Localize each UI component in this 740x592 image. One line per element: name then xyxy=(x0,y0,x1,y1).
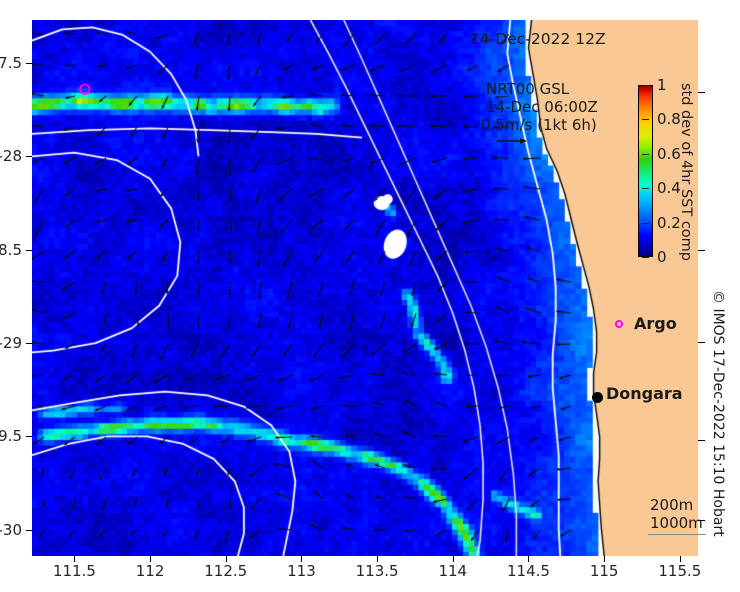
x-tick-label: 115.5 xyxy=(658,562,701,580)
vector-scale-label: 0.5m/s (1kt 6h) xyxy=(481,116,597,134)
x-tick-label: 115 xyxy=(590,562,619,580)
y-tick-label: -29 xyxy=(0,334,22,352)
bathymetry-200m-label: 200m xyxy=(650,496,693,514)
map-plot-area[interactable] xyxy=(32,20,698,556)
credit-text: © IMOS 17-Dec-2022 15:10 Hobart xyxy=(710,290,726,537)
map-overlay-layer xyxy=(32,20,698,556)
source-time-label: 14-Dec 06:00Z xyxy=(486,98,598,116)
colorbar-title: std dev of 4hr SST comp xyxy=(678,83,694,261)
x-tick-label: 114 xyxy=(438,562,467,580)
argo-legend-label: Argo xyxy=(634,314,677,333)
colorbar-tick xyxy=(642,188,649,189)
colorbar-gradient xyxy=(638,85,653,257)
bathymetry-legend-rule xyxy=(648,534,706,535)
y-tick xyxy=(26,436,32,437)
colorbar-tick xyxy=(642,119,649,120)
title-datetime: 14-Dec-2022 12Z xyxy=(470,30,606,48)
y-tick xyxy=(26,156,32,157)
y-tick-label: -28 xyxy=(0,147,22,165)
x-tick-label: 113 xyxy=(287,562,316,580)
colorbar-tick xyxy=(642,85,649,86)
y-tick xyxy=(26,63,32,64)
colorbar-tick-label: 0 xyxy=(657,248,667,266)
x-tick-label: 111.5 xyxy=(53,562,96,580)
x-tick-label: 112.5 xyxy=(204,562,247,580)
bathymetry-1000m-label: 1000m xyxy=(650,514,703,532)
colorbar-tick xyxy=(642,154,649,155)
figure-root: 111.5112112.5113113.5114114.5115115.5 -2… xyxy=(0,0,740,592)
right-frame-tick xyxy=(698,342,705,343)
y-tick xyxy=(26,530,32,531)
y-tick-label: -28.5 xyxy=(0,241,22,259)
x-tick-label: 112 xyxy=(136,562,165,580)
right-frame-tick xyxy=(698,250,705,251)
dongara-city-label: Dongara xyxy=(606,384,683,403)
right-frame-tick xyxy=(698,92,705,93)
colorbar-tick-label: 1 xyxy=(657,76,667,94)
colorbar-tick xyxy=(642,223,649,224)
x-tick-label: 113.5 xyxy=(356,562,399,580)
y-tick-label: -30 xyxy=(0,521,22,539)
y-tick-label: -27.5 xyxy=(0,54,22,72)
y-tick xyxy=(26,250,32,251)
x-tick-label: 114.5 xyxy=(507,562,550,580)
right-frame-tick xyxy=(698,440,705,441)
y-tick xyxy=(26,343,32,344)
reference-arrow-icon xyxy=(497,136,527,146)
dongara-marker-icon xyxy=(592,392,603,403)
colorbar-tick xyxy=(642,257,649,258)
source-product-label: NRT00 GSL xyxy=(486,80,569,98)
argo-marker-icon xyxy=(615,320,623,328)
y-tick-label: -29.5 xyxy=(0,427,22,445)
